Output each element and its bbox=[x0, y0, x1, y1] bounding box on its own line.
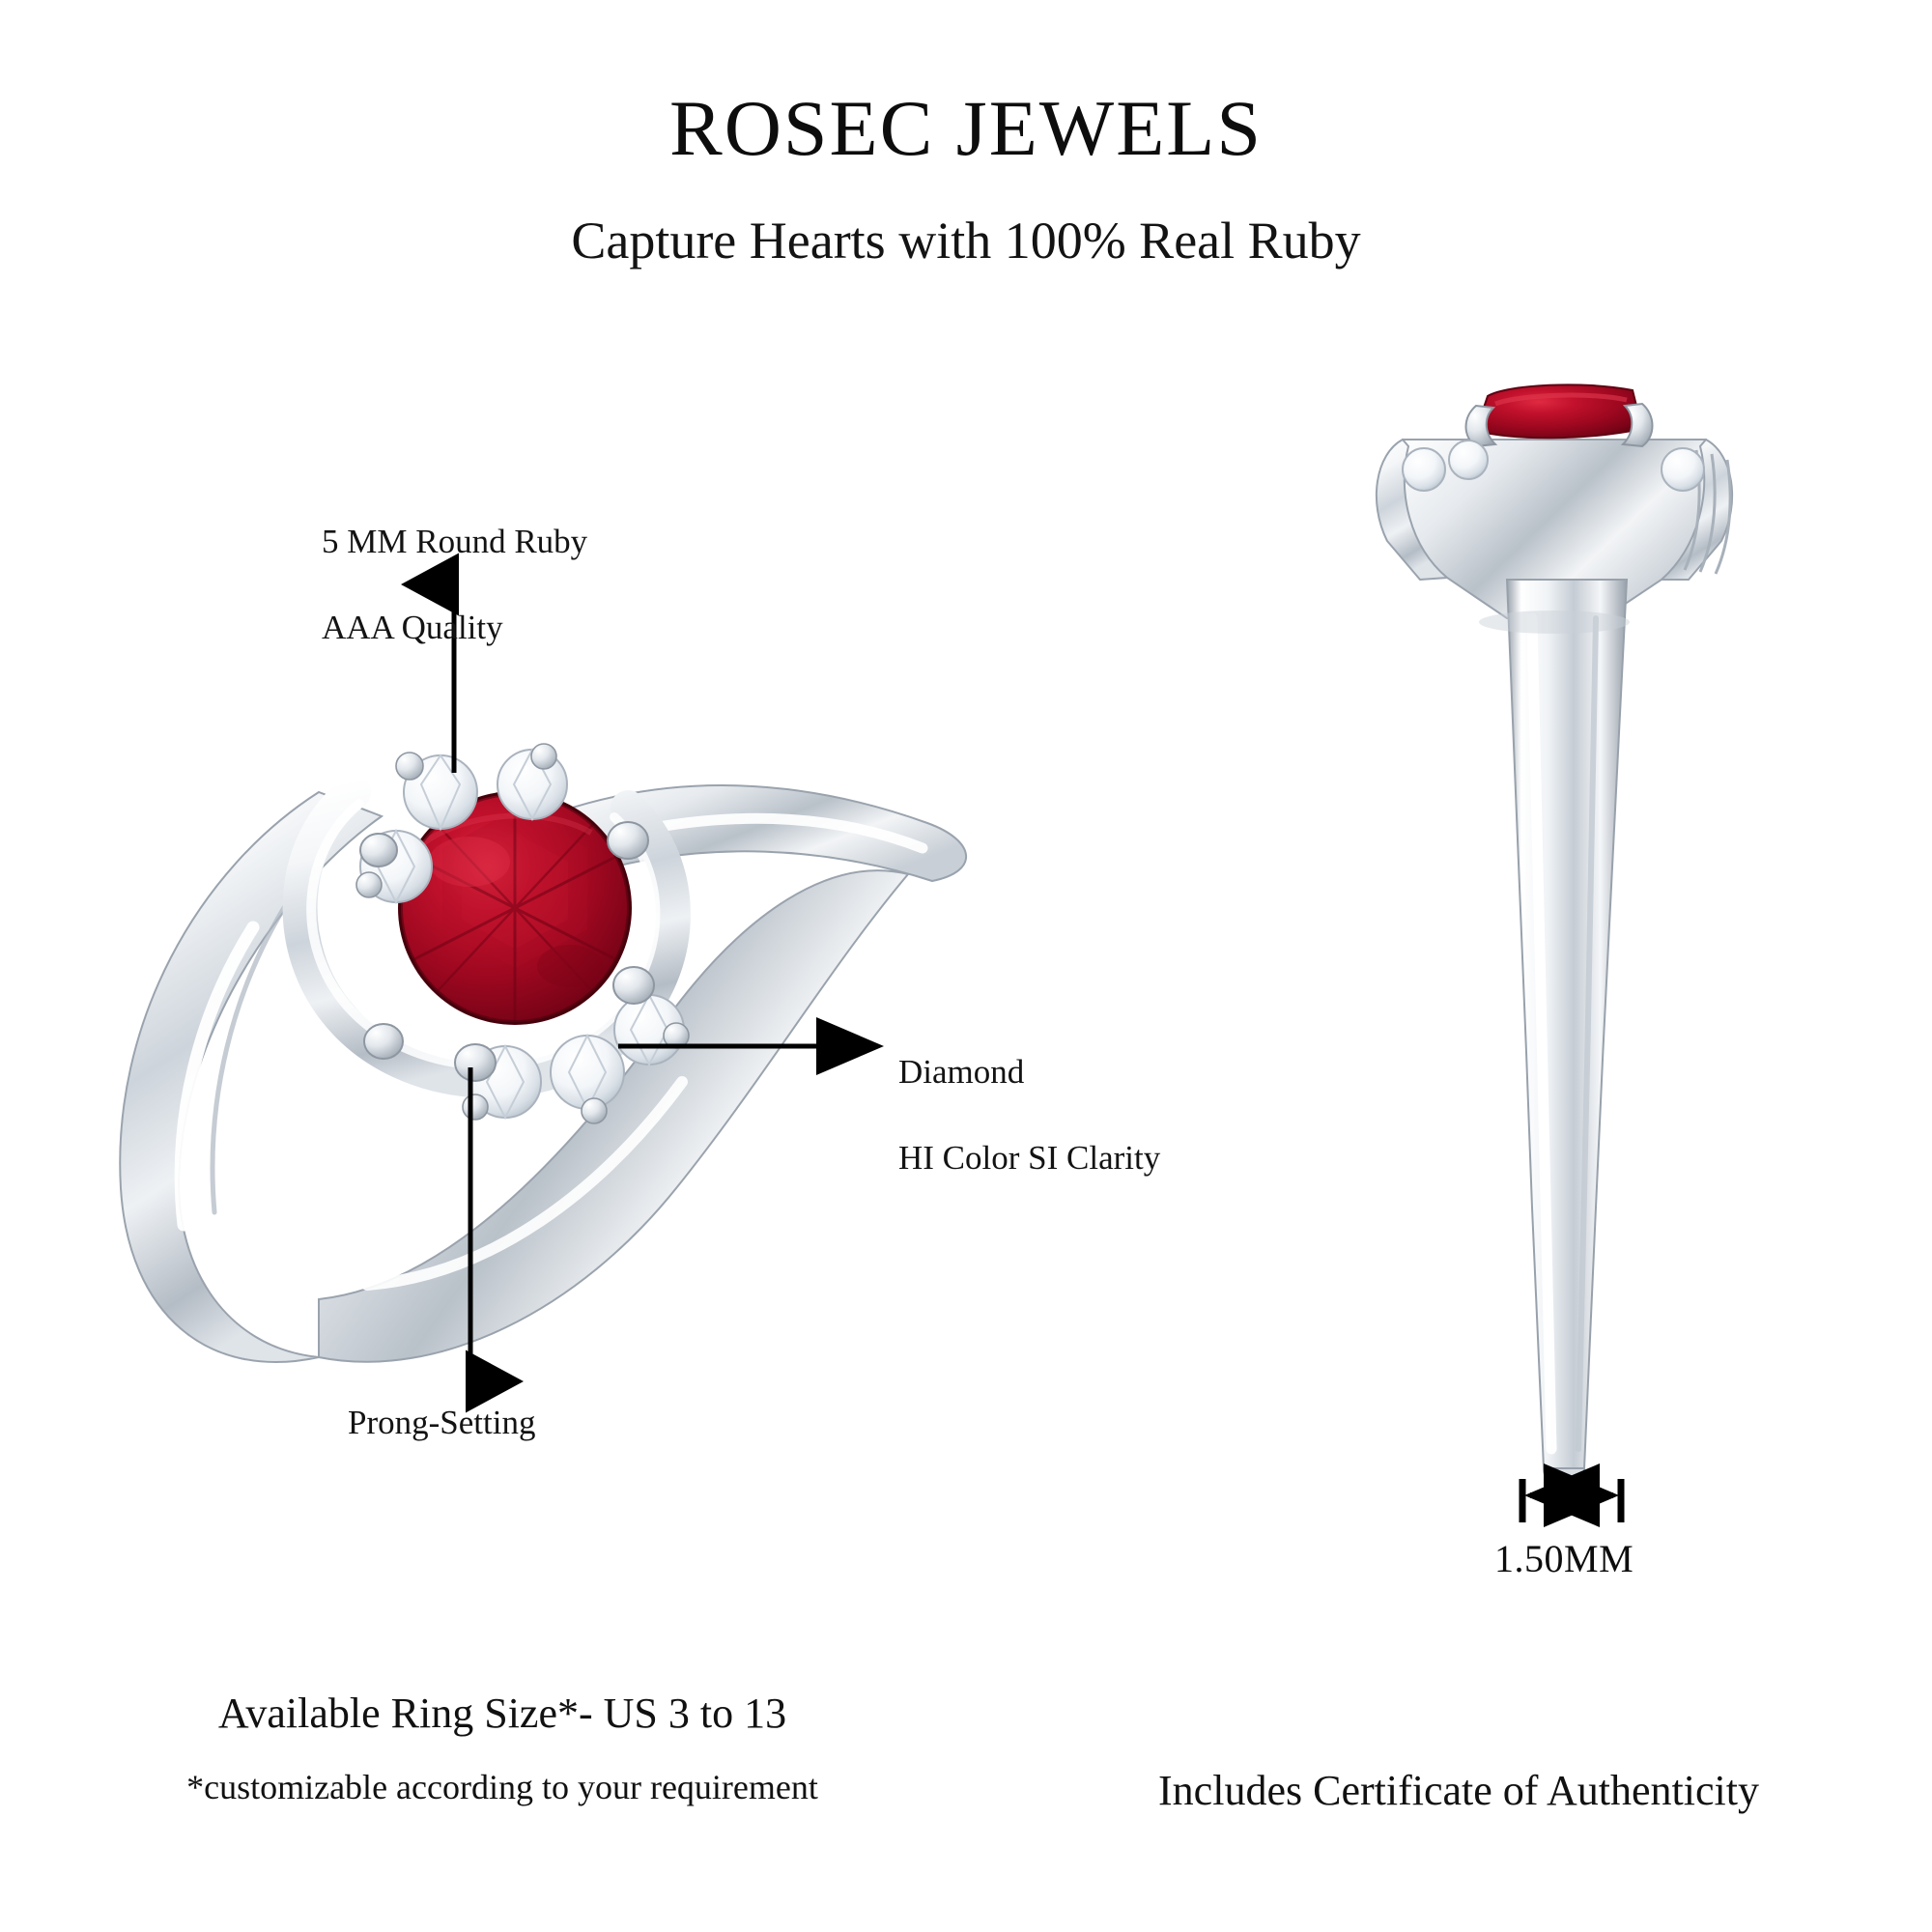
label-diamond-line1: Diamond bbox=[898, 1053, 1024, 1091]
label-gemstone-line2: AAA Quality bbox=[322, 609, 503, 646]
annotation-leaders bbox=[0, 0, 1932, 1932]
footer-ring-size: Available Ring Size*- US 3 to 13 bbox=[116, 1692, 889, 1735]
label-gemstone: 5 MM Round Ruby AAA Quality bbox=[322, 477, 587, 650]
label-gemstone-line1: 5 MM Round Ruby bbox=[322, 523, 587, 560]
footer-ring-size-note: *customizable according to your requirem… bbox=[116, 1770, 889, 1804]
label-diamond: Diamond HI Color SI Clarity bbox=[898, 1008, 1160, 1180]
label-band-width: 1.50MM bbox=[1494, 1536, 1634, 1581]
label-prong-setting: Prong-Setting bbox=[348, 1402, 535, 1445]
infographic-canvas: ROSEC JEWELS Capture Hearts with 100% Re… bbox=[0, 0, 1932, 1932]
band-width-dimension bbox=[1522, 1479, 1621, 1522]
footer-certificate: Includes Certificate of Authenticity bbox=[1024, 1770, 1893, 1812]
label-diamond-line2: HI Color SI Clarity bbox=[898, 1139, 1160, 1177]
